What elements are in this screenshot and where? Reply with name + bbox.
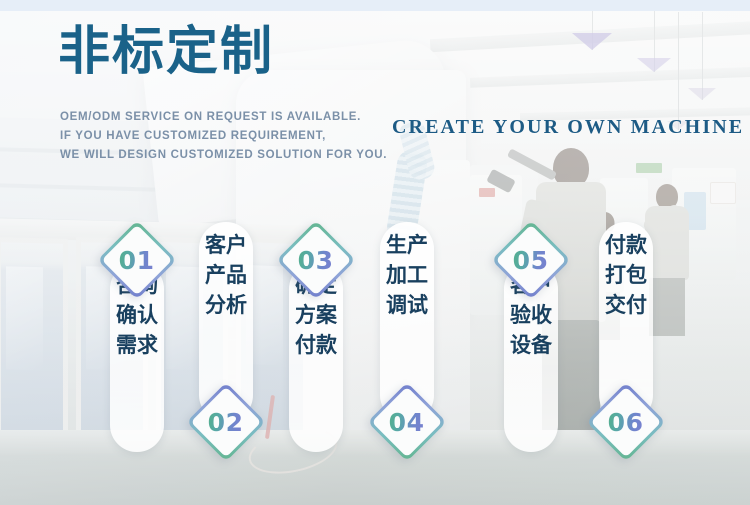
step-number: 02 <box>208 407 244 436</box>
process-steps: 咨询确认需求01客户产品分析02确定方案付款03生产加工调试04客户验收设备05… <box>0 0 750 505</box>
step-number: 01 <box>119 245 155 274</box>
step-label-text: 生产加工调试 <box>380 222 434 330</box>
step-number: 05 <box>513 245 549 274</box>
step-number: 04 <box>389 407 425 436</box>
step-label-text: 客户产品分析 <box>199 222 253 330</box>
step-label-text: 付款打包交付 <box>599 222 653 330</box>
custom-machine-banner: 非标定制 OEM/ODM SERVICE ON REQUEST IS AVAIL… <box>0 0 750 505</box>
step-number: 06 <box>608 407 644 436</box>
step-number: 03 <box>298 245 334 274</box>
